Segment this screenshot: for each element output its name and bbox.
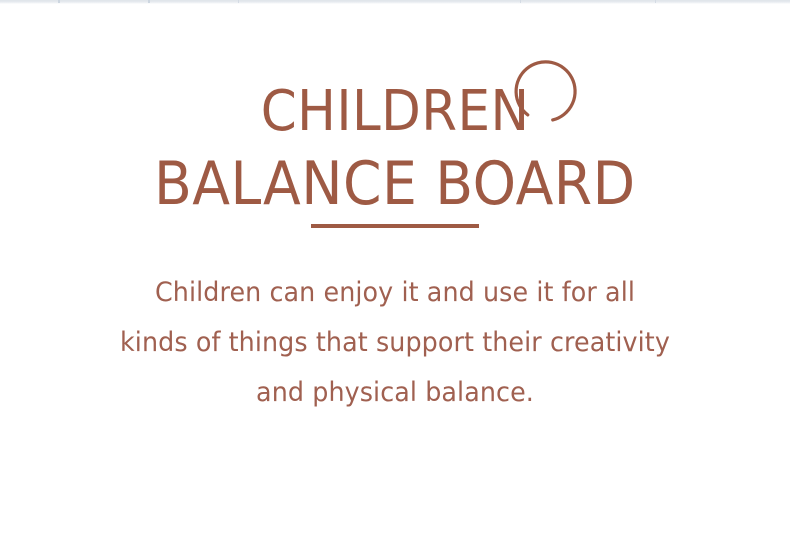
- body-copy-line-2: kinds of things that support their creat…: [24, 318, 767, 368]
- seam-tick: [238, 0, 239, 3]
- headline-line-1: CHILDREN: [261, 84, 530, 140]
- body-copy-line-1: Children can enjoy it and use it for all: [24, 268, 767, 318]
- body-copy-line-3: and physical balance.: [24, 368, 767, 418]
- body-copy-block: Children can enjoy it and use it for all…: [0, 268, 790, 418]
- seam-tick: [58, 0, 60, 3]
- seam-tick: [520, 0, 521, 3]
- top-seam-divider: [0, 0, 790, 4]
- product-banner: CHILDREN BALANCE BOARD Children can enjo…: [0, 0, 790, 540]
- seam-tick: [655, 0, 656, 3]
- headline-block: CHILDREN BALANCE BOARD: [0, 84, 790, 214]
- headline-underline-rule: [311, 224, 479, 228]
- seam-tick: [148, 0, 150, 3]
- headline-line-2: BALANCE BOARD: [154, 154, 636, 214]
